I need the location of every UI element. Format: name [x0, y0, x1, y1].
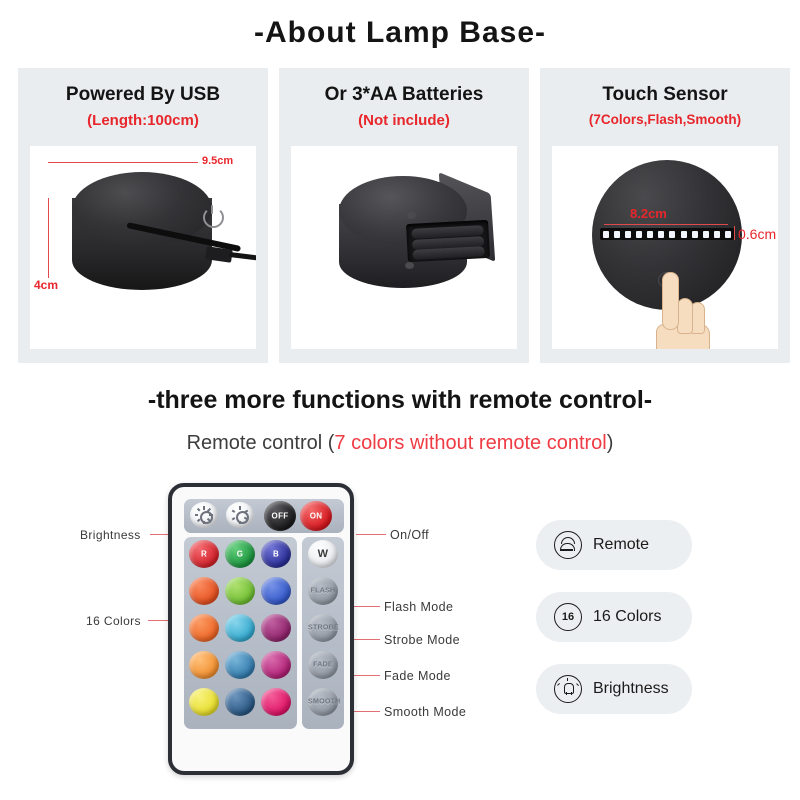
bulb-ray: [557, 683, 560, 686]
subtitle-highlight: 7 colors without remote control: [334, 432, 606, 454]
color-button-orange[interactable]: [189, 614, 219, 642]
led-segment: [647, 231, 653, 238]
power-on-button[interactable]: ON: [300, 501, 332, 531]
led-segment: [636, 231, 642, 238]
color-button-pink[interactable]: [261, 688, 291, 716]
infographic-page: -About Lamp Base- Powered By USB (Length…: [0, 0, 800, 800]
flash-mode-label: FLASH: [308, 588, 338, 595]
led-segment: [603, 231, 609, 238]
strip-length-dimension-line: [604, 224, 728, 225]
feature-card-list: Remote 16 16 Colors Brightness: [536, 520, 692, 736]
sixteen-icon: 16: [554, 603, 582, 631]
fade-mode-button[interactable]: FADE: [308, 651, 338, 679]
smooth-mode-button[interactable]: SMOOTH: [308, 688, 338, 716]
color-button-yellow[interactable]: [189, 688, 219, 716]
panel-heading: Powered By USB: [66, 84, 220, 106]
sixteen-badge-text: 16: [562, 611, 574, 623]
led-segment: [669, 231, 675, 238]
color-button-royal-blue[interactable]: [261, 577, 291, 605]
feature-card-label: Brightness: [593, 680, 669, 698]
height-dimension-line: [48, 198, 49, 278]
color-button-purple[interactable]: [261, 614, 291, 642]
subtitle-suffix: ): [607, 432, 614, 454]
screw: [405, 262, 414, 269]
power-on-label: ON: [300, 512, 332, 521]
feature-card-label: Remote: [593, 536, 649, 554]
bulb-ray: [576, 683, 579, 686]
color-button-magenta[interactable]: [261, 651, 291, 679]
callout-smooth-mode: Smooth Mode: [384, 705, 466, 719]
smooth-mode-label: SMOOTH: [308, 699, 338, 706]
flash-mode-button[interactable]: FLASH: [308, 577, 338, 605]
strobe-mode-label: STROBE: [308, 625, 338, 632]
battery-well: [406, 220, 490, 262]
strip-height-dimension-line: [734, 226, 735, 240]
color-button-white[interactable]: W: [308, 540, 338, 568]
panel-powered-by-usb: Powered By USB (Length:100cm) 9.5cm 4cm: [18, 68, 268, 363]
callout-onoff: On/Off: [390, 528, 429, 542]
led-segment: [692, 231, 698, 238]
color-button-cyan[interactable]: [225, 614, 255, 642]
remote-icon: [554, 531, 582, 559]
lamp-base-underside: [339, 176, 467, 246]
signal-base: [560, 549, 573, 551]
color-label: B: [261, 550, 291, 559]
callout-16-colors: 16 Colors: [86, 614, 141, 628]
panel-heading: Touch Sensor: [602, 84, 727, 106]
bulb-base: [566, 692, 572, 695]
brightness-up-button[interactable]: [226, 502, 254, 528]
remote-control[interactable]: OFF ON R G B W FLASH: [168, 483, 354, 775]
bulb-ray: [567, 678, 568, 681]
usb-cable: [229, 252, 256, 261]
led-segment: [681, 231, 687, 238]
panel-touch-sensor: Touch Sensor (7Colors,Flash,Smooth) 8.2c…: [540, 68, 790, 363]
led-segment: [614, 231, 620, 238]
section-subtitle-remote: Remote control (7 colors without remote …: [0, 432, 800, 455]
color-label: W: [308, 548, 338, 560]
page-title: -About Lamp Base-: [0, 16, 800, 50]
color-button-dark-blue[interactable]: [225, 688, 255, 716]
panel-heading: Or 3*AA Batteries: [325, 84, 484, 106]
color-button-green[interactable]: G: [225, 540, 255, 568]
led-strip: [600, 228, 734, 240]
touch-sensor-photo: 8.2cm 0.6cm: [552, 146, 778, 349]
color-button-light-orange[interactable]: [189, 651, 219, 679]
panel-subtitle: (Not include): [358, 112, 450, 129]
width-dimension-label: 9.5cm: [202, 155, 233, 167]
color-label: R: [189, 550, 219, 559]
led-segment: [703, 231, 709, 238]
panel-aa-batteries: Or 3*AA Batteries (Not include): [279, 68, 529, 363]
callout-flash-mode: Flash Mode: [384, 600, 453, 614]
feature-panels: Powered By USB (Length:100cm) 9.5cm 4cm …: [18, 68, 790, 363]
strip-length-label: 8.2cm: [630, 206, 667, 221]
led-segment: [725, 231, 731, 238]
callout-brightness: Brightness: [80, 528, 141, 542]
lamp-base-usb-photo: 9.5cm 4cm: [30, 146, 256, 349]
battery-compartment-photo: [291, 146, 517, 349]
feature-card-label: 16 Colors: [593, 608, 661, 626]
lamp-base-top: [72, 172, 212, 246]
middle-finger: [677, 298, 693, 334]
power-off-label: OFF: [264, 512, 296, 521]
color-button-light-green[interactable]: [225, 577, 255, 605]
brightness-down-button[interactable]: [190, 502, 218, 528]
led-segment: [714, 231, 720, 238]
feature-card-brightness[interactable]: Brightness: [536, 664, 692, 714]
feature-card-16-colors[interactable]: 16 16 Colors: [536, 592, 692, 642]
color-button-red[interactable]: R: [189, 540, 219, 568]
color-button-orange-red[interactable]: [189, 577, 219, 605]
section-title-remote: -three more functions with remote contro…: [0, 386, 800, 415]
led-segment: [658, 231, 664, 238]
power-off-button[interactable]: OFF: [264, 501, 296, 531]
led-segment: [625, 231, 631, 238]
panel-subtitle: (7Colors,Flash,Smooth): [589, 112, 741, 127]
panel-subtitle: (Length:100cm): [87, 112, 199, 129]
screw: [407, 212, 416, 219]
height-dimension-label: 4cm: [34, 278, 58, 292]
callout-fade-mode: Fade Mode: [384, 669, 451, 683]
color-button-blue[interactable]: B: [261, 540, 291, 568]
index-finger: [662, 272, 679, 330]
strip-height-label: 0.6cm: [738, 226, 776, 242]
hand-illustration: [644, 272, 716, 349]
callout-strobe-mode: Strobe Mode: [384, 633, 460, 647]
brightness-bulb-icon: [554, 675, 582, 703]
fade-mode-label: FADE: [308, 662, 338, 669]
feature-card-remote[interactable]: Remote: [536, 520, 692, 570]
callout-lead-onoff: [356, 534, 386, 535]
color-button-steel-blue[interactable]: [225, 651, 255, 679]
width-dimension-line: [48, 162, 198, 163]
subtitle-prefix: Remote control (: [187, 432, 335, 454]
power-icon: [203, 207, 224, 228]
color-label: G: [225, 550, 255, 559]
strobe-mode-button[interactable]: STROBE: [308, 614, 338, 642]
